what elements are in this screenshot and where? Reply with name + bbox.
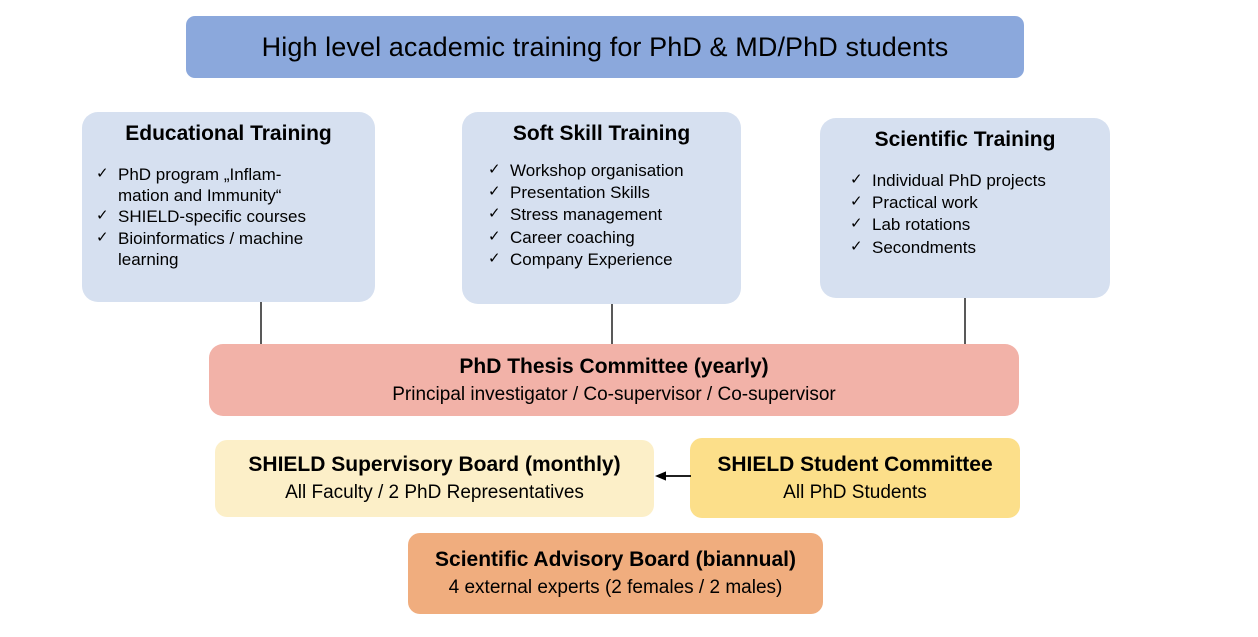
connector-line-scientific xyxy=(964,298,966,346)
connector-line-soft-skill xyxy=(611,304,613,346)
box-subtitle-student-committee: All PhD Students xyxy=(783,482,927,505)
banner-title-box: High level academic training for PhD & M… xyxy=(186,16,1024,78)
list-item-label: SHIELD-specific courses xyxy=(118,206,367,227)
list-item-label: Lab rotations xyxy=(872,214,1102,235)
card-title-soft-skill: Soft Skill Training xyxy=(470,122,733,146)
box-title-supervisory-board: SHIELD Supervisory Board (monthly) xyxy=(248,452,620,477)
check-icon: ✓ xyxy=(96,206,118,226)
check-icon: ✓ xyxy=(488,249,510,269)
list-item-label: Career coaching xyxy=(510,227,733,248)
card-list-scientific: ✓ Individual PhD projects ✓ Practical wo… xyxy=(828,170,1102,259)
list-item-label: Company Experience xyxy=(510,249,733,270)
card-title-scientific: Scientific Training xyxy=(828,128,1102,152)
list-item-label: Individual PhD projects xyxy=(872,170,1102,191)
check-icon: ✓ xyxy=(96,164,118,184)
list-item: ✓ Individual PhD projects xyxy=(850,170,1102,191)
list-item: ✓ Company Experience xyxy=(488,249,733,270)
list-item: ✓ Presentation Skills xyxy=(488,182,733,203)
box-title-student-committee: SHIELD Student Committee xyxy=(717,452,992,477)
list-item: ✓ Career coaching xyxy=(488,227,733,248)
list-item: ✓ PhD program „Inflam-mation and Immunit… xyxy=(96,164,367,207)
list-item: ✓ Bioinformatics / machinelearning xyxy=(96,228,367,271)
list-item-label: Secondments xyxy=(872,237,1102,258)
card-list-soft-skill: ✓ Workshop organisation ✓ Presentation S… xyxy=(470,160,733,271)
list-item: ✓ Secondments xyxy=(850,237,1102,258)
check-icon: ✓ xyxy=(488,182,510,202)
box-shield-supervisory-board: SHIELD Supervisory Board (monthly) All F… xyxy=(215,440,654,517)
banner-title-text: High level academic training for PhD & M… xyxy=(262,32,949,63)
check-icon: ✓ xyxy=(850,214,872,234)
list-item: ✓ Workshop organisation xyxy=(488,160,733,181)
check-icon: ✓ xyxy=(850,170,872,190)
list-item: ✓ SHIELD-specific courses xyxy=(96,206,367,227)
box-subtitle-supervisory-board: All Faculty / 2 PhD Representatives xyxy=(285,482,584,505)
box-title-advisory-board: Scientific Advisory Board (biannual) xyxy=(435,547,796,572)
list-item-label: Presentation Skills xyxy=(510,182,733,203)
card-list-educational: ✓ PhD program „Inflam-mation and Immunit… xyxy=(90,164,367,271)
list-item: ✓ Practical work xyxy=(850,192,1102,213)
box-phd-thesis-committee: PhD Thesis Committee (yearly) Principal … xyxy=(209,344,1019,416)
box-scientific-advisory-board: Scientific Advisory Board (biannual) 4 e… xyxy=(408,533,823,614)
check-icon: ✓ xyxy=(488,204,510,224)
box-subtitle-thesis-committee: Principal investigator / Co-supervisor /… xyxy=(392,384,836,407)
box-subtitle-advisory-board: 4 external experts (2 females / 2 males) xyxy=(449,577,783,600)
check-icon: ✓ xyxy=(488,160,510,180)
card-educational-training: Educational Training ✓ PhD program „Infl… xyxy=(82,112,375,302)
list-item-label: Stress management xyxy=(510,204,733,225)
list-item-label: Practical work xyxy=(872,192,1102,213)
box-title-thesis-committee: PhD Thesis Committee (yearly) xyxy=(459,354,768,379)
list-item-label: Bioinformatics / machinelearning xyxy=(118,228,367,271)
check-icon: ✓ xyxy=(96,228,118,248)
connector-line-educational xyxy=(260,302,262,346)
check-icon: ✓ xyxy=(488,227,510,247)
list-item-label: Workshop organisation xyxy=(510,160,733,181)
list-item: ✓ Lab rotations xyxy=(850,214,1102,235)
check-icon: ✓ xyxy=(850,192,872,212)
list-item: ✓ Stress management xyxy=(488,204,733,225)
check-icon: ✓ xyxy=(850,237,872,257)
box-shield-student-committee: SHIELD Student Committee All PhD Student… xyxy=(690,438,1020,518)
arrow-left-icon xyxy=(655,469,691,483)
diagram-canvas: High level academic training for PhD & M… xyxy=(0,0,1258,637)
card-scientific-training: Scientific Training ✓ Individual PhD pro… xyxy=(820,118,1110,298)
card-title-educational: Educational Training xyxy=(90,122,367,146)
list-item-label: PhD program „Inflam-mation and Immunity“ xyxy=(118,164,367,207)
card-soft-skill-training: Soft Skill Training ✓ Workshop organisat… xyxy=(462,112,741,304)
